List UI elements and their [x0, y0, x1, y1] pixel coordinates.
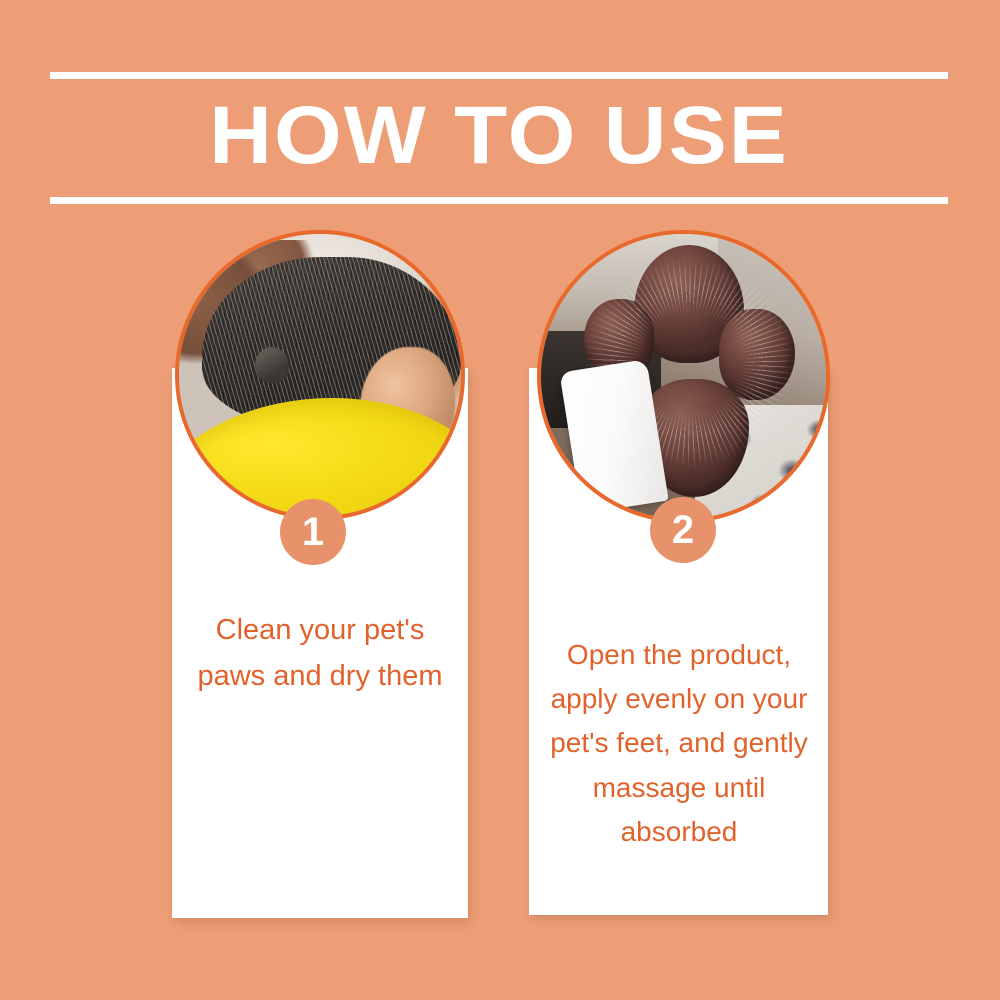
step-1-caption: Clean your pet's paws and dry them	[186, 608, 454, 700]
steps-container: 1 Clean your pet's paws and dry them 2 O…	[0, 0, 1000, 1000]
step-1-photo	[175, 230, 465, 520]
step-2-photo	[537, 230, 830, 523]
step-2-number-badge: 2	[650, 497, 716, 563]
step-1-number-badge: 1	[280, 499, 346, 565]
step-2-caption: Open the product, apply evenly on your p…	[539, 633, 819, 854]
paw-balm-photo-art	[541, 234, 826, 519]
paw-wipe-photo-art	[179, 234, 461, 516]
